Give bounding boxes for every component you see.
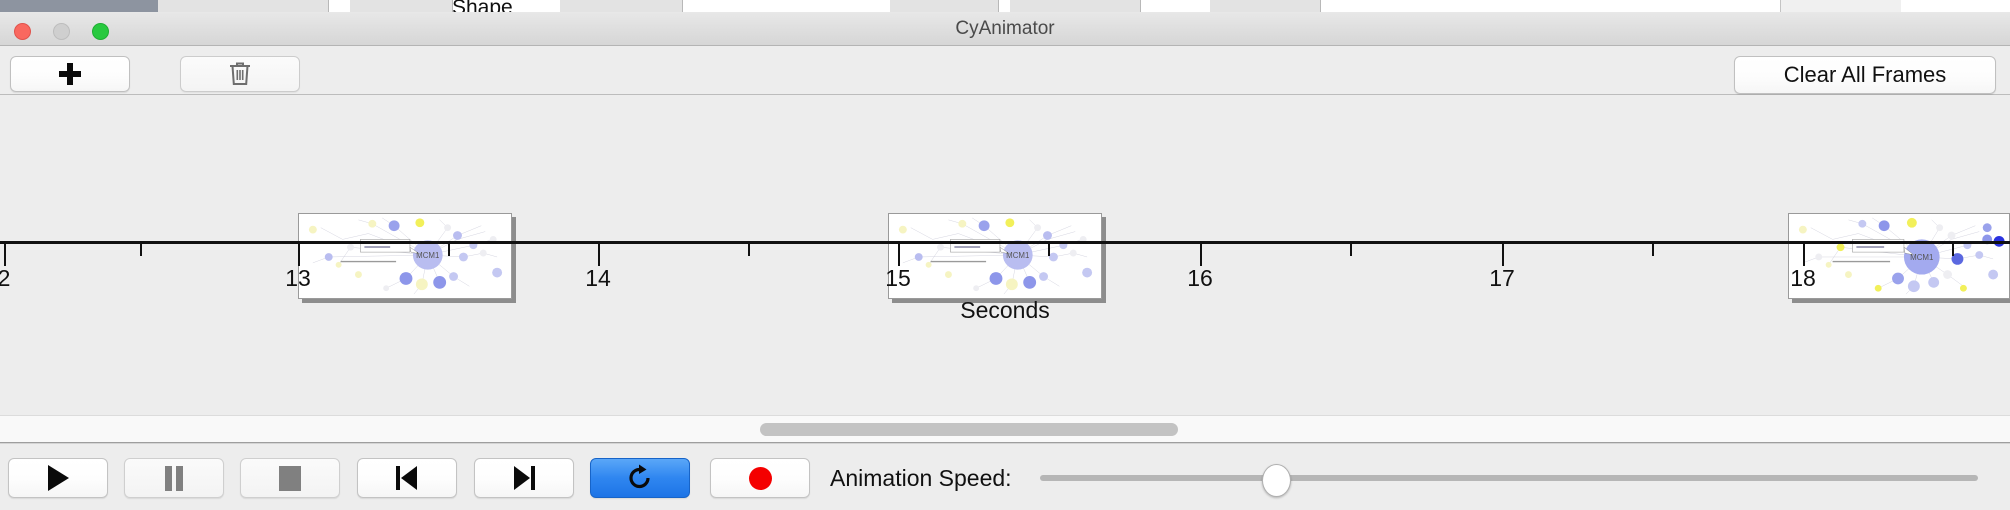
- skip-to-end-button[interactable]: [474, 458, 574, 498]
- play-button[interactable]: [8, 458, 108, 498]
- clear-all-frames-label: Clear All Frames: [1784, 62, 1947, 88]
- background-window-label: Shape: [452, 0, 513, 12]
- skip-end-icon: [512, 466, 536, 490]
- pause-icon: [164, 466, 184, 491]
- trash-icon: [228, 61, 252, 87]
- skip-start-icon: [395, 466, 419, 490]
- axis-tick-minor: [140, 244, 142, 256]
- thumbnail-image: MCM1: [298, 213, 512, 299]
- keyframe-thumbnail-1[interactable]: MCM1: [298, 213, 512, 299]
- thumbnail-image: MCM1: [1788, 213, 2010, 299]
- stop-icon: [279, 466, 301, 491]
- axis-tick-major: [298, 244, 300, 266]
- animation-speed-slider[interactable]: [1040, 458, 1978, 498]
- stop-button[interactable]: [240, 458, 340, 498]
- axis-title: Seconds: [0, 297, 2010, 324]
- axis-tick-label: 13: [285, 265, 311, 292]
- network-graph: MCM1: [1789, 214, 2009, 298]
- scrollbar-thumb[interactable]: [760, 423, 1178, 436]
- axis-tick-minor: [1952, 244, 1954, 256]
- network-graph: MCM1: [299, 214, 511, 298]
- axis-tick-label: 16: [1187, 265, 1213, 292]
- play-icon: [48, 465, 69, 491]
- axis-tick-label: 17: [1489, 265, 1515, 292]
- loop-icon: [626, 464, 654, 492]
- cyanimator-window: Shape CyAnimator Clear All Frames: [0, 0, 2010, 510]
- svg-text:MCM1: MCM1: [416, 251, 439, 260]
- thumbnail-image: MCM1: [888, 213, 1102, 299]
- axis-tick-label: 2: [0, 265, 10, 292]
- slider-track[interactable]: [1040, 475, 1978, 481]
- axis-tick-minor: [1652, 244, 1654, 256]
- axis-tick-major: [1200, 244, 1202, 266]
- network-graph: MCM1: [889, 214, 1101, 298]
- animation-speed-label: Animation Speed:: [830, 458, 1012, 498]
- titlebar: CyAnimator: [0, 12, 2010, 46]
- timeline-scrollbar[interactable]: [0, 415, 2010, 443]
- axis-tick-major: [898, 244, 900, 266]
- window-title: CyAnimator: [0, 12, 2010, 46]
- axis-tick-label: 15: [885, 265, 911, 292]
- clear-all-frames-button[interactable]: Clear All Frames: [1734, 56, 1996, 94]
- keyframe-thumbnail-3[interactable]: MCM1: [1788, 213, 2010, 299]
- pause-button[interactable]: [124, 458, 224, 498]
- delete-frame-button[interactable]: [180, 56, 300, 92]
- playback-control-bar: Animation Speed:: [0, 443, 2010, 510]
- plus-icon: [58, 62, 82, 86]
- axis-tick-minor: [1350, 244, 1352, 256]
- timeline-panel[interactable]: MCM1: [0, 95, 2010, 415]
- axis-tick-major: [598, 244, 600, 266]
- svg-text:MCM1: MCM1: [1910, 253, 1933, 262]
- loop-button[interactable]: [590, 458, 690, 498]
- axis-tick-minor: [1048, 244, 1050, 256]
- record-icon: [749, 467, 772, 490]
- axis-tick-major: [1502, 244, 1504, 266]
- slider-thumb[interactable]: [1262, 464, 1291, 497]
- axis-tick-label: 18: [1790, 265, 1816, 292]
- skip-to-start-button[interactable]: [357, 458, 457, 498]
- toolbar: Clear All Frames: [0, 46, 2010, 95]
- svg-text:MCM1: MCM1: [1006, 251, 1029, 260]
- keyframe-thumbnail-2[interactable]: MCM1: [888, 213, 1102, 299]
- background-window-strip: Shape: [0, 0, 2010, 12]
- background-window-titlebar: [0, 0, 158, 12]
- axis-tick-major: [4, 244, 6, 266]
- axis-tick-minor: [748, 244, 750, 256]
- axis-tick-minor: [448, 244, 450, 256]
- axis-tick-major: [1803, 244, 1805, 266]
- record-button[interactable]: [710, 458, 810, 498]
- timeline-axis-line: [0, 241, 2010, 244]
- background-window-scrollbar[interactable]: [1780, 0, 1901, 12]
- axis-tick-label: 14: [585, 265, 611, 292]
- add-frame-button[interactable]: [10, 56, 130, 92]
